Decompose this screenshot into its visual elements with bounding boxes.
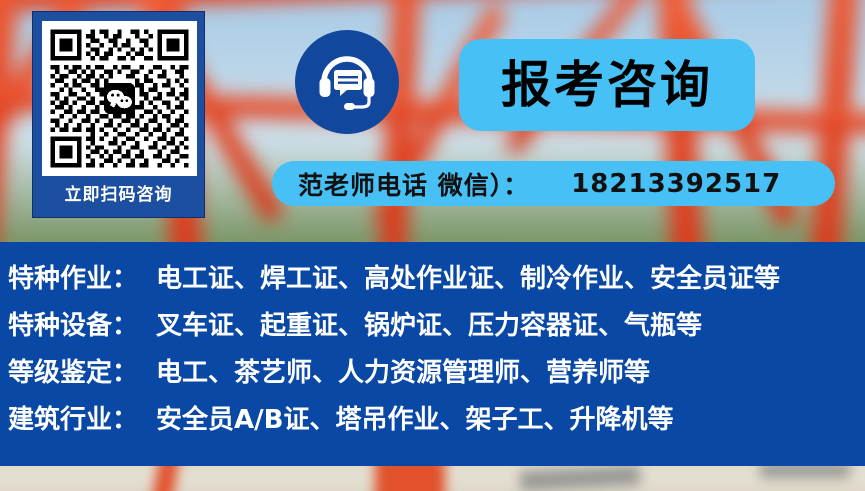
info-row-label: 特种作业： — [8, 258, 138, 295]
certification-list-panel: 特种作业： 电工证、焊工证、高处作业证、制冷作业、安全员证等 特种设备： 叉车证… — [0, 242, 865, 466]
info-row-label: 等级鉴定： — [8, 352, 138, 389]
qr-code-card[interactable]: 立即扫码咨询 — [32, 11, 205, 218]
title-pill-text: 报考咨询 — [501, 60, 713, 110]
headset-support-badge[interactable] — [295, 30, 399, 134]
bottom-photo-strip — [0, 466, 865, 491]
grey-element — [520, 466, 641, 491]
title-pill[interactable]: 报考咨询 — [459, 39, 755, 131]
phone-number[interactable]: 18213392517 — [571, 169, 781, 199]
info-row-value: 电工、茶艺师、人力资源管理师、营养师等 — [156, 352, 650, 389]
grey-element — [760, 466, 850, 478]
headset-support-icon — [316, 52, 378, 112]
info-row: 等级鉴定： 电工、茶艺师、人力资源管理师、营养师等 — [8, 352, 865, 399]
promo-poster: 立即扫码咨询 报考咨询 范老师电话 微信）： 18213392517 特种作业：… — [0, 0, 865, 491]
info-row-label: 建筑行业： — [8, 399, 138, 436]
steel-beam — [375, 466, 445, 491]
info-row-value: 电工证、焊工证、高处作业证、制冷作业、安全员证等 — [156, 258, 780, 295]
qr-code-image[interactable] — [42, 21, 197, 176]
phone-label: 范老师电话 微信）： — [298, 166, 529, 202]
info-row: 建筑行业： 安全员A/B证、塔吊作业、架子工、升降机等 — [8, 399, 865, 446]
info-row-label: 特种设备： — [8, 305, 138, 342]
steel-beam — [149, 466, 181, 491]
phone-pill[interactable]: 范老师电话 微信）： 18213392517 — [272, 161, 835, 206]
info-row-value: 安全员A/B证、塔吊作业、架子工、升降机等 — [156, 399, 673, 436]
qr-card-caption: 立即扫码咨询 — [42, 176, 195, 215]
qr-code-icon — [46, 25, 193, 172]
info-row: 特种设备： 叉车证、起重证、锅炉证、压力容器证、气瓶等 — [8, 305, 865, 352]
info-row: 特种作业： 电工证、焊工证、高处作业证、制冷作业、安全员证等 — [8, 258, 865, 305]
bottom-photo-layer — [0, 466, 865, 491]
info-row-value: 叉车证、起重证、锅炉证、压力容器证、气瓶等 — [156, 305, 702, 342]
